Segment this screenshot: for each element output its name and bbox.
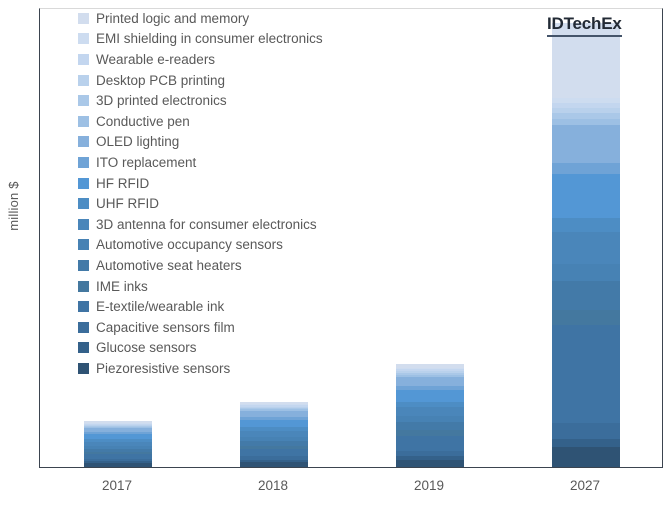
legend-item-label: ITO replacement	[96, 155, 196, 170]
legend-item-label: Automotive seat heaters	[96, 258, 242, 273]
bar-segment[interactable]	[552, 163, 620, 174]
bar-column-2018[interactable]	[240, 402, 308, 467]
legend-color-swatch-icon	[78, 219, 89, 230]
legend-item-label: EMI shielding in consumer electronics	[96, 31, 323, 46]
x-tick-label: 2017	[57, 478, 177, 493]
bar-segment[interactable]	[552, 325, 620, 423]
legend-item[interactable]: Automotive seat heaters	[78, 255, 378, 276]
bar-column-2019[interactable]	[396, 364, 464, 467]
legend-item[interactable]: EMI shielding in consumer electronics	[78, 29, 378, 50]
legend-item-label: OLED lighting	[96, 134, 179, 149]
legend-item[interactable]: Printed logic and memory	[78, 8, 378, 29]
legend-item[interactable]: Desktop PCB printing	[78, 70, 378, 91]
legend-color-swatch-icon	[78, 260, 89, 271]
legend-item[interactable]: OLED lighting	[78, 132, 378, 153]
legend-item-label: IME inks	[96, 279, 148, 294]
legend-item-label: Conductive pen	[96, 114, 190, 129]
bar-segment[interactable]	[552, 281, 620, 310]
legend-color-swatch-icon	[78, 363, 89, 374]
legend-item-label: Piezoresistive sensors	[96, 361, 230, 376]
legend-item[interactable]: IME inks	[78, 276, 378, 297]
bar-segment[interactable]	[396, 377, 464, 386]
legend-item-label: Desktop PCB printing	[96, 73, 225, 88]
x-tick-label: 2019	[369, 478, 489, 493]
x-axis-labels: 2017201820192027	[39, 478, 663, 498]
bar-segment[interactable]	[552, 447, 620, 467]
legend-color-swatch-icon	[78, 178, 89, 189]
legend-color-swatch-icon	[78, 198, 89, 209]
bar-segment[interactable]	[396, 390, 464, 401]
bar-segment[interactable]	[84, 463, 152, 467]
legend-color-swatch-icon	[78, 95, 89, 106]
bar-column-2027[interactable]	[552, 23, 620, 467]
y-axis-title: million $	[4, 156, 24, 256]
legend-item[interactable]: Glucose sensors	[78, 338, 378, 359]
bar-segment[interactable]	[240, 449, 308, 456]
bar-segment[interactable]	[396, 460, 464, 467]
legend-color-swatch-icon	[78, 33, 89, 44]
legend-item-label: Wearable e-readers	[96, 52, 215, 67]
bar-segment[interactable]	[552, 174, 620, 218]
bar-column-2017[interactable]	[84, 421, 152, 467]
legend-item[interactable]: Capacitive sensors film	[78, 317, 378, 338]
legend-item[interactable]: ITO replacement	[78, 152, 378, 173]
legend-item-label: Printed logic and memory	[96, 11, 249, 26]
legend-item[interactable]: HF RFID	[78, 173, 378, 194]
legend-color-swatch-icon	[78, 75, 89, 86]
bar-segment[interactable]	[240, 420, 308, 428]
legend-item-label: Glucose sensors	[96, 340, 197, 355]
legend-color-swatch-icon	[78, 136, 89, 147]
legend-item[interactable]: Conductive pen	[78, 111, 378, 132]
legend-item[interactable]: Wearable e-readers	[78, 49, 378, 70]
bar-segment[interactable]	[552, 310, 620, 325]
legend-item-label: Capacitive sensors film	[96, 320, 235, 335]
bar-segment[interactable]	[552, 218, 620, 231]
legend-color-swatch-icon	[78, 13, 89, 24]
bar-segment[interactable]	[240, 462, 308, 467]
bar-segment[interactable]	[552, 125, 620, 163]
legend-item[interactable]: E-textile/wearable ink	[78, 296, 378, 317]
legend-color-swatch-icon	[78, 116, 89, 127]
legend-item-label: Automotive occupancy sensors	[96, 237, 283, 252]
legend-item[interactable]: Automotive occupancy sensors	[78, 235, 378, 256]
legend-item[interactable]: UHF RFID	[78, 193, 378, 214]
x-tick-label: 2027	[525, 478, 645, 493]
bar-segment[interactable]	[396, 436, 464, 451]
legend-color-swatch-icon	[78, 239, 89, 250]
legend-color-swatch-icon	[78, 157, 89, 168]
bar-segment[interactable]	[396, 422, 464, 430]
idtechex-logo: IDTechEx	[547, 14, 622, 37]
legend-item[interactable]: 3D printed electronics	[78, 90, 378, 111]
bar-segment[interactable]	[396, 407, 464, 417]
legend-item-label: UHF RFID	[96, 196, 159, 211]
legend-color-swatch-icon	[78, 322, 89, 333]
legend-color-swatch-icon	[78, 54, 89, 65]
x-tick-label: 2018	[213, 478, 333, 493]
legend-item-label: 3D antenna for consumer electronics	[96, 217, 317, 232]
bar-segment[interactable]	[552, 423, 620, 439]
bar-segment[interactable]	[552, 264, 620, 280]
legend-item[interactable]: Piezoresistive sensors	[78, 358, 378, 379]
legend-item[interactable]: 3D antenna for consumer electronics	[78, 214, 378, 235]
bar-segment[interactable]	[552, 232, 620, 265]
bar-segment[interactable]	[552, 439, 620, 447]
legend-item-label: 3D printed electronics	[96, 93, 227, 108]
legend-color-swatch-icon	[78, 342, 89, 353]
legend-color-swatch-icon	[78, 301, 89, 312]
legend-item-label: E-textile/wearable ink	[96, 299, 224, 314]
stacked-bar-chart: million $ 2017201820192027 Printed logic…	[0, 0, 672, 506]
chart-legend: Printed logic and memoryEMI shielding in…	[78, 8, 378, 379]
legend-color-swatch-icon	[78, 281, 89, 292]
legend-item-label: HF RFID	[96, 176, 149, 191]
